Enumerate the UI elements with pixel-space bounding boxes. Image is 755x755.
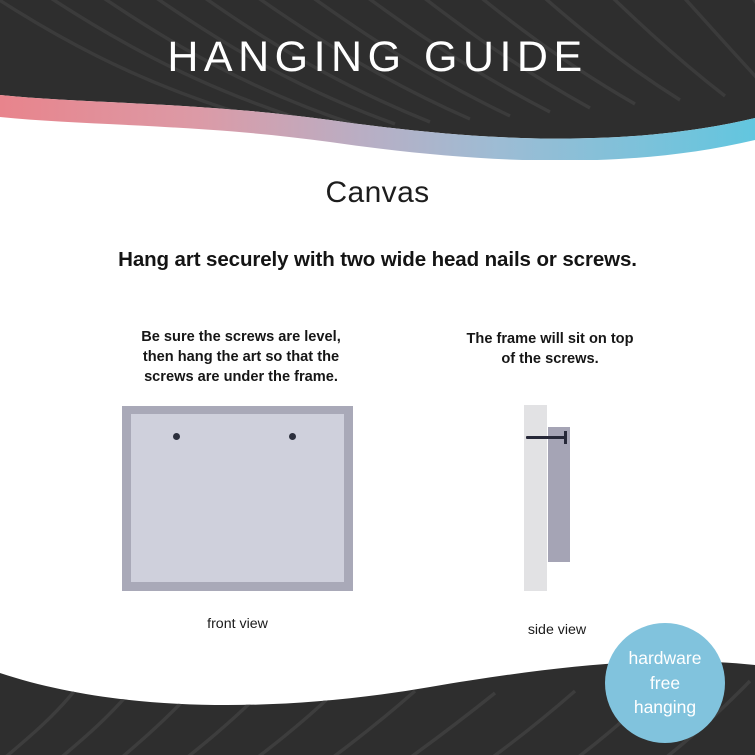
side-view-caption: The frame will sit on top of the screws. xyxy=(430,329,670,369)
screw-dot-right-icon xyxy=(289,433,296,440)
front-view-caption-line-2: then hang the art so that the xyxy=(117,347,365,367)
badge-line-1: hardware xyxy=(629,646,702,671)
front-view-caption: Be sure the screws are level, then hang … xyxy=(117,327,365,387)
screw-dot-left-icon xyxy=(173,433,180,440)
side-view-caption-line-2: of the screws. xyxy=(430,349,670,369)
side-view-caption-line-1: The frame will sit on top xyxy=(430,329,670,349)
front-view-caption-line-1: Be sure the screws are level, xyxy=(117,327,365,347)
side-view-diagram xyxy=(522,405,592,591)
screw-head-icon xyxy=(564,431,567,444)
section-title: Canvas xyxy=(0,176,755,210)
hardware-free-hanging-badge: hardware free hanging xyxy=(605,623,725,743)
screw-shaft-icon xyxy=(526,436,566,439)
intro-text: Hang art securely with two wide head nai… xyxy=(0,248,755,272)
page-title: HANGING GUIDE xyxy=(0,33,755,82)
badge-line-3: hanging xyxy=(634,695,696,720)
picture-frame-canvas-panel xyxy=(131,414,344,582)
front-view-caption-line-3: screws are under the frame. xyxy=(117,367,365,387)
badge-line-2: free xyxy=(650,671,680,696)
front-view-diagram xyxy=(122,406,353,591)
wall-surface xyxy=(524,405,547,591)
frame-profile xyxy=(548,427,570,562)
